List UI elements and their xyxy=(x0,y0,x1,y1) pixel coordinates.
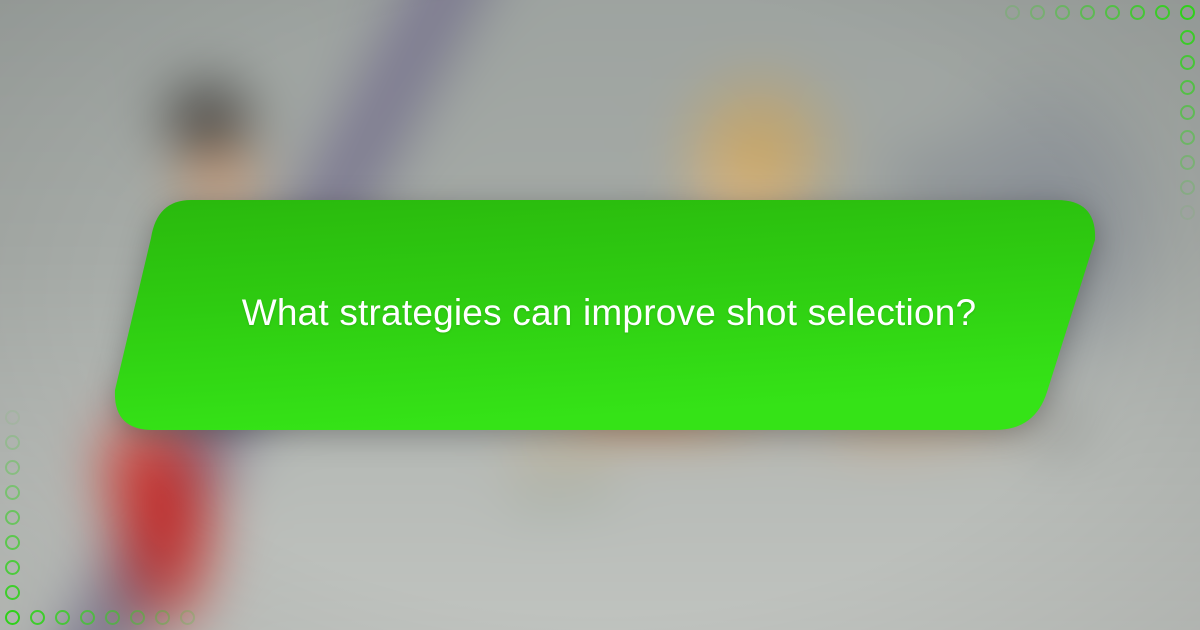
poster-canvas: What strategies can improve shot selecti… xyxy=(0,0,1200,630)
question-text: What strategies can improve shot selecti… xyxy=(242,291,977,335)
question-card[interactable]: What strategies can improve shot selecti… xyxy=(95,192,1105,438)
question-card-text-area: What strategies can improve shot selecti… xyxy=(95,192,1105,438)
